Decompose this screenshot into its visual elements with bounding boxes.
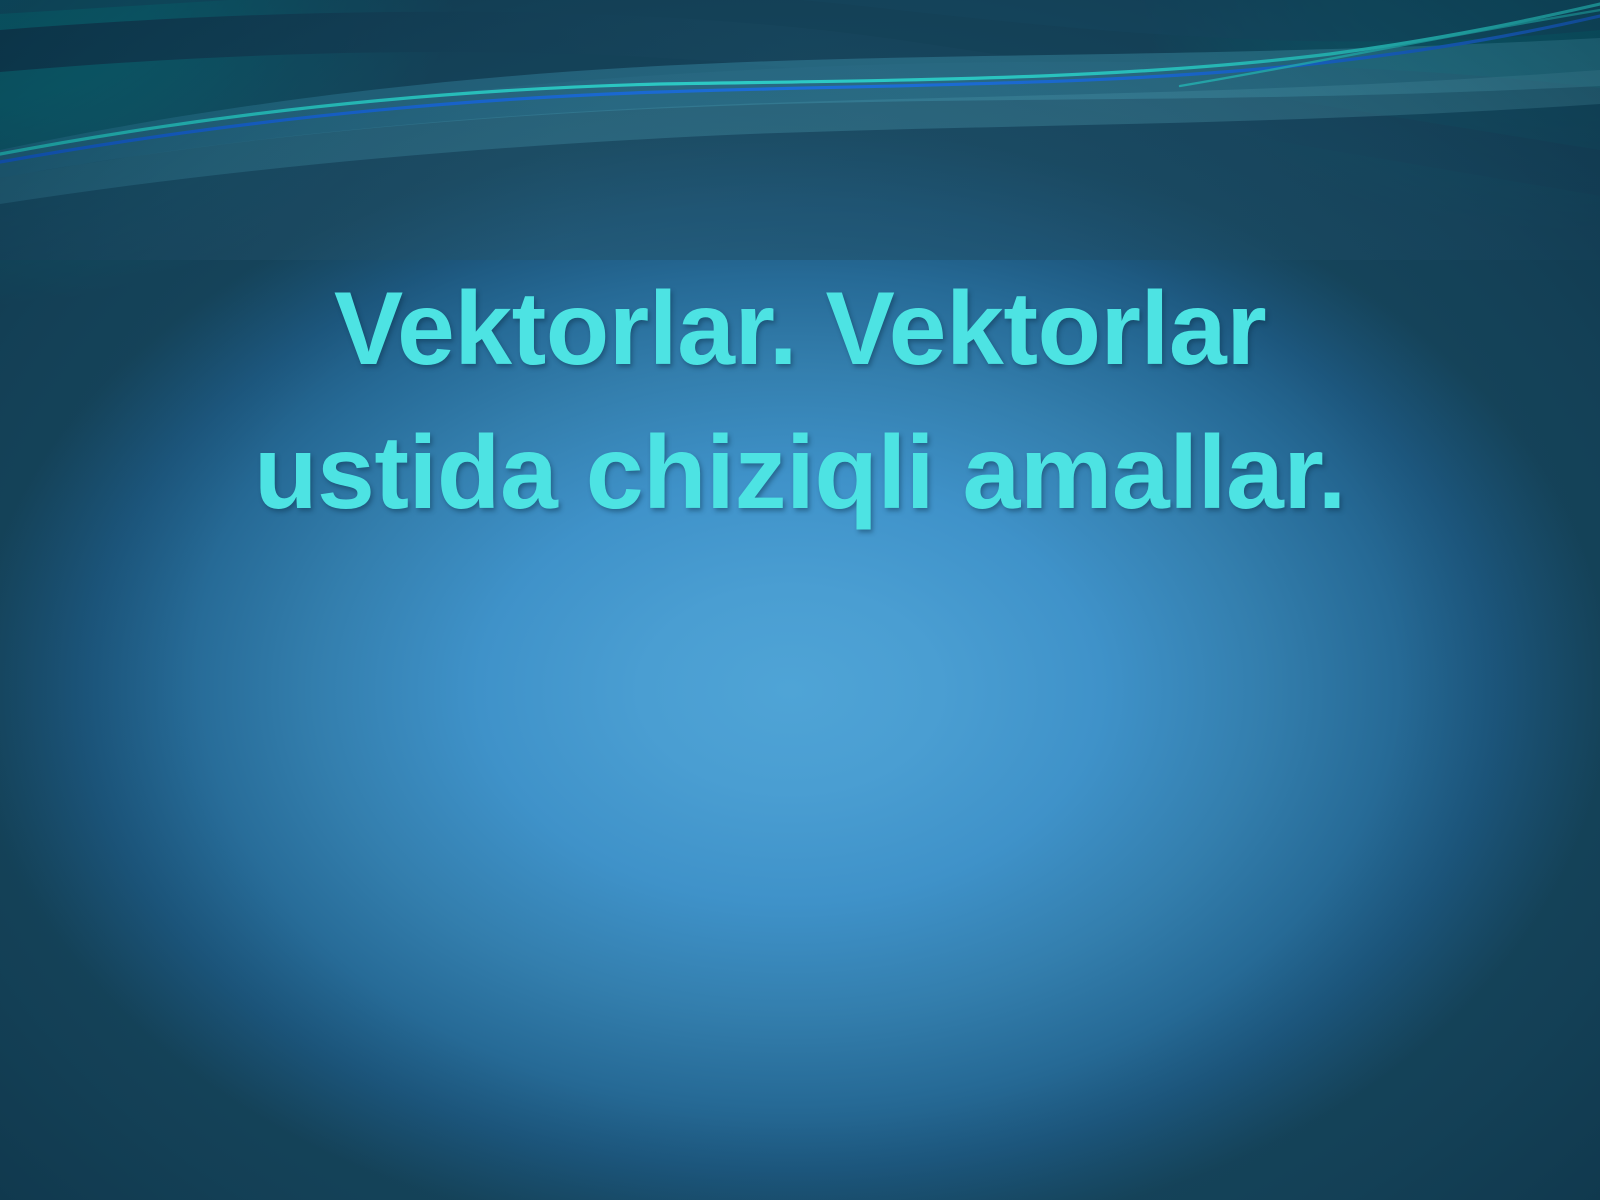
title-line-1: Vektorlar. Vektorlar xyxy=(0,258,1600,402)
background-vignette xyxy=(0,0,1600,1200)
title-slide: Vektorlar. Vektorlar ustida chiziqli ama… xyxy=(0,0,1600,1200)
title-line-2: ustida chiziqli amallar. xyxy=(0,402,1600,546)
page-title: Vektorlar. Vektorlar ustida chiziqli ama… xyxy=(0,258,1600,545)
